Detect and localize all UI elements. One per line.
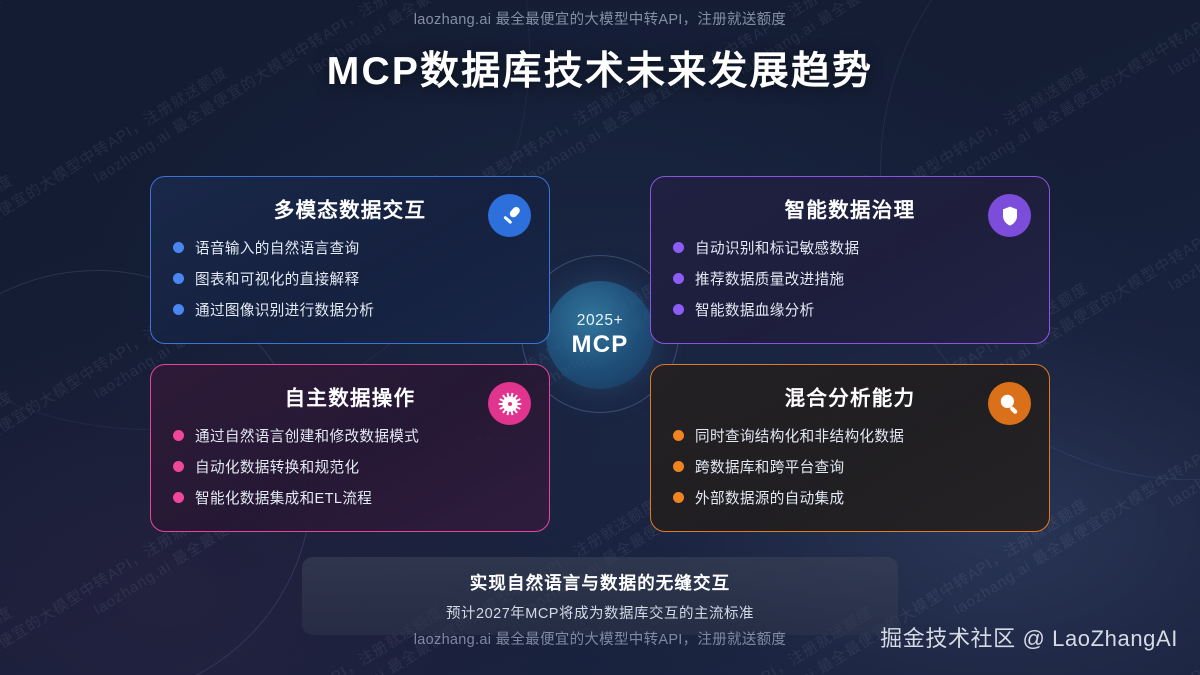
card-bullet-list: 自动识别和标记敏感数据 推荐数据质量改进措施 智能数据血缘分析 xyxy=(673,237,1027,320)
bullet-text: 智能化数据集成和ETL流程 xyxy=(195,487,372,508)
banner-title: 实现自然语言与数据的无缝交互 xyxy=(470,570,730,595)
bullet-dot xyxy=(173,273,184,284)
magnifier-icon xyxy=(988,382,1031,425)
summary-banner: 实现自然语言与数据的无缝交互 预计2027年MCP将成为数据库交互的主流标准 xyxy=(302,557,898,635)
feature-card-multimodal[interactable]: 多模态数据交互 语音输入的自然语言查询 图表和可视化的直接解释 通过图像识别进行… xyxy=(150,176,550,344)
bullet-text: 通过自然语言创建和修改数据模式 xyxy=(195,425,419,446)
bullet-dot xyxy=(173,461,184,472)
bullet-text: 智能数据血缘分析 xyxy=(695,299,815,320)
feature-card-governance[interactable]: 智能数据治理 自动识别和标记敏感数据 推荐数据质量改进措施 智能数据血缘分析 xyxy=(650,176,1050,344)
bullet-dot xyxy=(173,242,184,253)
card-bullet-list: 同时查询结构化和非结构化数据 跨数据库和跨平台查询 外部数据源的自动集成 xyxy=(673,425,1027,508)
bullet-dot xyxy=(673,273,684,284)
card-title: 智能数据治理 xyxy=(673,193,1027,223)
bullet-text: 图表和可视化的直接解释 xyxy=(195,268,359,289)
credit-attribution: 掘金技术社区 @ LaoZhangAI xyxy=(880,621,1178,653)
list-item: 外部数据源的自动集成 xyxy=(673,487,1027,508)
card-title: 自主数据操作 xyxy=(173,381,527,411)
list-item: 图表和可视化的直接解释 xyxy=(173,268,527,289)
list-item: 跨数据库和跨平台查询 xyxy=(673,456,1027,477)
hub-year: 2025+ xyxy=(577,312,624,330)
list-item: 自动化数据转换和规范化 xyxy=(173,456,527,477)
list-item: 自动识别和标记敏感数据 xyxy=(673,237,1027,258)
card-bullet-list: 语音输入的自然语言查询 图表和可视化的直接解释 通过图像识别进行数据分析 xyxy=(173,237,527,320)
bullet-dot xyxy=(173,430,184,441)
bullet-text: 语音输入的自然语言查询 xyxy=(195,237,359,258)
bullet-text: 外部数据源的自动集成 xyxy=(695,487,844,508)
bullet-dot xyxy=(673,492,684,503)
banner-subtitle: 预计2027年MCP将成为数据库交互的主流标准 xyxy=(446,602,754,623)
list-item: 通过自然语言创建和修改数据模式 xyxy=(173,425,527,446)
list-item: 智能数据血缘分析 xyxy=(673,299,1027,320)
bullet-dot xyxy=(673,304,684,315)
bullet-dot xyxy=(673,461,684,472)
shield-icon xyxy=(988,194,1031,237)
microphone-icon xyxy=(488,194,531,237)
feature-card-hybrid[interactable]: 混合分析能力 同时查询结构化和非结构化数据 跨数据库和跨平台查询 外部数据源的自… xyxy=(650,364,1050,532)
hub-name: MCP xyxy=(572,331,629,359)
bullet-text: 自动化数据转换和规范化 xyxy=(195,456,359,477)
bullet-text: 推荐数据质量改进措施 xyxy=(695,268,844,289)
gear-burst-icon xyxy=(488,382,531,425)
bullet-dot xyxy=(173,492,184,503)
list-item: 语音输入的自然语言查询 xyxy=(173,237,527,258)
page-title: MCP数据库技术未来发展趋势 xyxy=(0,40,1200,96)
card-bullet-list: 通过自然语言创建和修改数据模式 自动化数据转换和规范化 智能化数据集成和ETL流… xyxy=(173,425,527,508)
list-item: 同时查询结构化和非结构化数据 xyxy=(673,425,1027,446)
bullet-text: 自动识别和标记敏感数据 xyxy=(695,237,859,258)
bullet-dot xyxy=(173,304,184,315)
list-item: 智能化数据集成和ETL流程 xyxy=(173,487,527,508)
card-title: 混合分析能力 xyxy=(673,381,1027,411)
center-hub: 2025+ MCP xyxy=(546,281,654,389)
bullet-text: 同时查询结构化和非结构化数据 xyxy=(695,425,904,446)
bullet-dot xyxy=(673,242,684,253)
feature-card-autonomous[interactable]: 自主数据操作 通过自然语言创建和修改数据模式 自动化数据转换和规范化 xyxy=(150,364,550,532)
bullet-text: 通过图像识别进行数据分析 xyxy=(195,299,374,320)
top-watermark-text: laozhang.ai 最全最便宜的大模型中转API，注册就送额度 xyxy=(0,8,1200,29)
slide-canvas: laozhang.ai 最全最便宜的大模型中转API，注册就送额度laozhan… xyxy=(0,0,1200,675)
list-item: 推荐数据质量改进措施 xyxy=(673,268,1027,289)
card-title: 多模态数据交互 xyxy=(173,193,527,223)
bullet-dot xyxy=(673,430,684,441)
list-item: 通过图像识别进行数据分析 xyxy=(173,299,527,320)
bullet-text: 跨数据库和跨平台查询 xyxy=(695,456,844,477)
